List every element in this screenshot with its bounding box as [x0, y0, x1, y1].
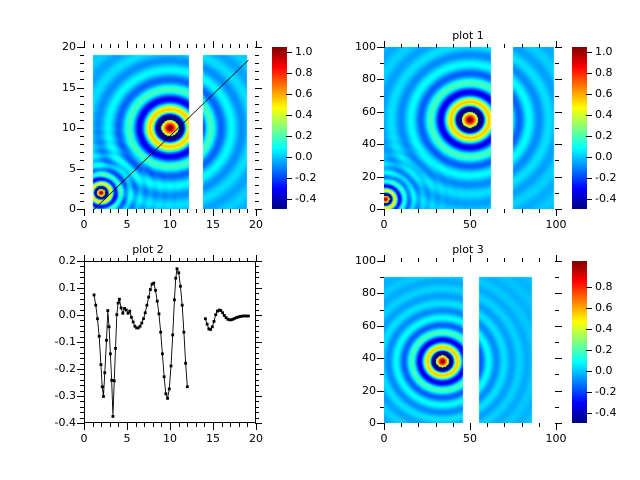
- data-point-marker: [103, 371, 106, 374]
- tick-mark: [239, 209, 240, 213]
- tick-mark: [377, 326, 384, 327]
- tick-mark: [470, 209, 471, 216]
- x-tick-label: 50: [448, 433, 492, 444]
- tick-mark: [80, 391, 84, 392]
- tick-mark: [555, 177, 562, 178]
- data-point-marker: [211, 325, 214, 328]
- tick-mark: [401, 423, 402, 427]
- tick-mark: [255, 152, 259, 153]
- tick-mark: [586, 287, 592, 288]
- tick-mark: [255, 293, 259, 294]
- tick-mark: [247, 258, 248, 262]
- tick-mark: [384, 255, 385, 262]
- tick-mark: [80, 374, 84, 375]
- tick-mark: [204, 44, 205, 48]
- tick-mark: [80, 160, 84, 161]
- tick-mark: [213, 255, 214, 262]
- tick-mark: [255, 266, 259, 267]
- tick-mark: [255, 177, 259, 178]
- data-point-marker: [118, 298, 121, 301]
- data-point-marker: [142, 317, 145, 320]
- colorbar-tick-label: 0.0: [595, 151, 635, 162]
- tick-mark: [80, 380, 84, 381]
- tick-mark: [555, 128, 559, 129]
- tick-mark: [255, 320, 259, 321]
- tick-mark: [255, 304, 259, 305]
- tick-mark: [586, 94, 592, 95]
- tick-mark: [80, 63, 84, 64]
- tick-mark: [204, 258, 205, 262]
- tick-mark: [101, 258, 102, 262]
- tick-mark: [101, 44, 102, 48]
- tick-mark: [255, 55, 259, 56]
- tick-mark: [80, 177, 84, 178]
- data-point-marker: [115, 313, 118, 316]
- y-tick-label: 0.2: [32, 255, 76, 266]
- colorbar-tick-label: -0.4: [595, 407, 635, 418]
- tick-mark: [77, 128, 84, 129]
- tick-mark: [80, 201, 84, 202]
- tick-mark: [453, 258, 454, 262]
- tick-mark: [380, 407, 384, 408]
- tick-mark: [196, 209, 197, 213]
- tick-mark: [453, 209, 454, 213]
- tick-mark: [380, 160, 384, 161]
- tick-mark: [504, 423, 505, 427]
- tick-mark: [80, 293, 84, 294]
- tick-mark: [196, 258, 197, 262]
- tick-mark: [255, 104, 259, 105]
- tick-mark: [384, 41, 385, 48]
- subplot-top-right: plot 1 050100020406080100 1.00.80.60.40.…: [320, 0, 640, 240]
- x-tick-label: 15: [191, 433, 235, 444]
- tick-mark: [179, 423, 180, 427]
- tick-mark: [586, 308, 592, 309]
- heatmap-bottom-right: [384, 261, 556, 423]
- tick-mark: [255, 342, 262, 343]
- data-point-marker: [130, 316, 133, 319]
- diagonal-annotation-line-top-left: [85, 48, 257, 210]
- colorbar-tick-label: -0.2: [595, 172, 635, 183]
- tick-mark: [487, 258, 488, 262]
- data-point-marker: [209, 328, 212, 331]
- data-point-marker: [156, 300, 159, 303]
- data-point-marker: [101, 385, 104, 388]
- tick-mark: [161, 44, 162, 48]
- tick-mark: [377, 112, 384, 113]
- tick-mark: [153, 258, 154, 262]
- tick-mark: [255, 337, 259, 338]
- tick-mark: [377, 79, 384, 80]
- axes-top-right: [384, 47, 556, 209]
- tick-mark: [401, 258, 402, 262]
- tick-mark: [555, 277, 559, 278]
- data-point-marker: [120, 307, 123, 310]
- tick-mark: [213, 41, 214, 48]
- tick-mark: [80, 337, 84, 338]
- tick-mark: [255, 299, 259, 300]
- tick-mark: [80, 79, 84, 80]
- tick-mark: [286, 178, 292, 179]
- tick-mark: [77, 315, 84, 316]
- data-point-marker: [98, 335, 101, 338]
- tick-mark: [418, 258, 419, 262]
- tick-mark: [586, 350, 592, 351]
- colorbar-tick-label: 0.8: [595, 67, 635, 78]
- data-point-marker: [177, 271, 180, 274]
- tick-mark: [204, 423, 205, 427]
- tick-mark: [522, 258, 523, 262]
- tick-mark: [255, 369, 262, 370]
- tick-mark: [80, 320, 84, 321]
- tick-mark: [256, 209, 257, 216]
- tick-mark: [255, 144, 259, 145]
- tick-mark: [80, 277, 84, 278]
- tick-mark: [80, 193, 84, 194]
- tick-mark: [377, 358, 384, 359]
- tick-mark: [93, 44, 94, 48]
- colorbar-tick-label: 0.8: [595, 281, 635, 292]
- tick-mark: [255, 310, 259, 311]
- tick-mark: [187, 44, 188, 48]
- colorbar-frame-top-left: [272, 47, 287, 209]
- tick-mark: [470, 41, 471, 48]
- x-tick-label: 10: [148, 433, 192, 444]
- tick-mark: [136, 258, 137, 262]
- data-point-marker: [184, 362, 187, 365]
- x-tick-label: 5: [105, 219, 149, 230]
- tick-mark: [80, 418, 84, 419]
- tick-mark: [377, 47, 384, 48]
- tick-mark: [80, 304, 84, 305]
- axes-top-left: [84, 47, 256, 209]
- tick-mark: [555, 310, 559, 311]
- data-point-marker: [96, 317, 99, 320]
- data-point-marker: [170, 365, 173, 368]
- tick-mark: [255, 288, 262, 289]
- tick-mark: [144, 423, 145, 427]
- data-point-marker: [146, 304, 149, 307]
- tick-mark: [436, 44, 437, 48]
- tick-mark: [286, 52, 292, 53]
- tick-mark: [213, 209, 214, 216]
- tick-mark: [136, 423, 137, 427]
- tick-mark: [93, 258, 94, 262]
- tick-mark: [255, 385, 259, 386]
- tick-mark: [436, 209, 437, 213]
- data-point-marker: [171, 334, 174, 337]
- line-series-bottom-left: [85, 262, 257, 424]
- tick-mark: [110, 44, 111, 48]
- y-tick-label: 20: [332, 385, 376, 396]
- data-point-marker: [149, 288, 152, 291]
- data-point-marker: [186, 385, 189, 388]
- colorbar-tick-label: 0.6: [595, 302, 635, 313]
- tick-mark: [84, 423, 85, 430]
- y-tick-label: 0.1: [32, 282, 76, 293]
- colorbar-tick-label: 0.2: [595, 344, 635, 355]
- tick-mark: [255, 396, 262, 397]
- tick-mark: [586, 52, 592, 53]
- tick-mark: [401, 209, 402, 213]
- y-tick-label: 5: [32, 163, 76, 174]
- tick-mark: [418, 44, 419, 48]
- tick-mark: [255, 261, 262, 262]
- tick-mark: [555, 193, 559, 194]
- tick-mark: [170, 209, 171, 216]
- tick-mark: [80, 96, 84, 97]
- y-tick-label: 60: [332, 106, 376, 117]
- data-point-marker: [132, 321, 135, 324]
- tick-mark: [255, 364, 259, 365]
- tick-mark: [255, 407, 259, 408]
- tick-mark: [84, 41, 85, 48]
- tick-mark: [77, 342, 84, 343]
- colorbar-frame-top-right: [572, 47, 587, 209]
- colorbar-frame-bottom-right: [572, 261, 587, 423]
- colorbar-tick-label: 1.0: [595, 46, 635, 57]
- tick-mark: [80, 136, 84, 137]
- tick-mark: [101, 423, 102, 427]
- data-point-marker: [121, 312, 124, 315]
- colorbar-gradient-bottom-right: [572, 261, 587, 423]
- tick-mark: [377, 391, 384, 392]
- tick-mark: [170, 255, 171, 262]
- tick-mark: [179, 209, 180, 213]
- tick-mark: [586, 157, 592, 158]
- tick-mark: [222, 258, 223, 262]
- tick-mark: [255, 201, 259, 202]
- y-tick-label: 0: [332, 203, 376, 214]
- tick-mark: [118, 258, 119, 262]
- tick-mark: [555, 96, 559, 97]
- tick-mark: [153, 209, 154, 213]
- tick-mark: [84, 209, 85, 216]
- data-point-marker: [161, 352, 164, 355]
- tick-mark: [179, 44, 180, 48]
- data-point-marker: [109, 352, 112, 355]
- tick-mark: [377, 293, 384, 294]
- data-point-marker: [164, 392, 167, 395]
- tick-mark: [555, 160, 559, 161]
- data-point-marker: [183, 331, 186, 334]
- x-tick-label: 5: [105, 433, 149, 444]
- tick-mark: [179, 258, 180, 262]
- axes-bottom-left: [84, 261, 256, 423]
- data-point-marker: [117, 302, 120, 305]
- tick-mark: [170, 423, 171, 430]
- axes-bottom-right: [384, 261, 556, 423]
- tick-mark: [204, 209, 205, 213]
- y-tick-label: -0.1: [32, 336, 76, 347]
- tick-mark: [80, 120, 84, 121]
- tick-mark: [213, 423, 214, 430]
- tick-mark: [161, 258, 162, 262]
- tick-mark: [77, 209, 84, 210]
- y-tick-label: -0.2: [32, 363, 76, 374]
- x-tick-label: 20: [234, 219, 278, 230]
- tick-mark: [504, 258, 505, 262]
- tick-mark: [144, 258, 145, 262]
- tick-mark: [380, 342, 384, 343]
- tick-mark: [380, 193, 384, 194]
- tick-mark: [118, 423, 119, 427]
- tick-mark: [77, 88, 84, 89]
- data-point-marker: [144, 311, 147, 314]
- tick-mark: [80, 358, 84, 359]
- data-point-marker: [247, 315, 250, 318]
- tick-mark: [239, 258, 240, 262]
- tick-mark: [80, 364, 84, 365]
- tick-mark: [255, 96, 259, 97]
- tick-mark: [436, 258, 437, 262]
- tick-mark: [436, 423, 437, 427]
- tick-mark: [487, 423, 488, 427]
- colorbar-tick-label: -0.4: [595, 193, 635, 204]
- tick-mark: [144, 209, 145, 213]
- colorbar-gradient-top-right: [572, 47, 587, 209]
- tick-mark: [170, 41, 171, 48]
- colorbar-tick-label: 0.4: [595, 109, 635, 120]
- tick-mark: [80, 144, 84, 145]
- tick-mark: [187, 209, 188, 213]
- data-point-marker: [125, 309, 128, 312]
- tick-mark: [539, 209, 540, 213]
- tick-mark: [93, 423, 94, 427]
- tick-mark: [77, 261, 84, 262]
- heatmap-top-right: [384, 47, 556, 209]
- tick-mark: [80, 407, 84, 408]
- tick-mark: [586, 199, 592, 200]
- tick-mark: [255, 347, 259, 348]
- y-tick-label: 0.0: [32, 309, 76, 320]
- tick-mark: [153, 44, 154, 48]
- x-tick-label: 0: [362, 219, 406, 230]
- tick-mark: [453, 423, 454, 427]
- tick-mark: [80, 283, 84, 284]
- y-tick-label: 20: [32, 41, 76, 52]
- colorbar-gradient-top-left: [272, 47, 287, 209]
- tick-mark: [255, 63, 259, 64]
- tick-mark: [555, 79, 562, 80]
- tick-mark: [255, 272, 259, 273]
- tick-mark: [187, 258, 188, 262]
- tick-mark: [222, 209, 223, 213]
- tick-mark: [380, 96, 384, 97]
- tick-mark: [555, 47, 562, 48]
- data-point-marker: [94, 304, 97, 307]
- tick-mark: [380, 277, 384, 278]
- tick-mark: [255, 169, 262, 170]
- tick-mark: [255, 185, 259, 186]
- data-point-marker: [139, 325, 142, 328]
- tick-mark: [255, 380, 259, 381]
- tick-mark: [555, 293, 562, 294]
- subplot-top-left: 0510152005101520 1.00.80.60.40.20.0-0.2-…: [0, 0, 320, 240]
- line-path: [94, 269, 187, 417]
- data-point-marker: [213, 320, 216, 323]
- tick-mark: [118, 209, 119, 213]
- x-tick-label: 10: [148, 219, 192, 230]
- data-point-marker: [152, 282, 155, 285]
- y-tick-label: -0.4: [32, 417, 76, 428]
- tick-mark: [247, 423, 248, 427]
- tick-mark: [286, 115, 292, 116]
- tick-mark: [255, 283, 259, 284]
- data-point-marker: [163, 375, 166, 378]
- tick-mark: [255, 136, 259, 137]
- tick-mark: [380, 374, 384, 375]
- y-tick-label: 80: [332, 73, 376, 84]
- y-tick-label: 60: [332, 320, 376, 331]
- tick-mark: [77, 288, 84, 289]
- tick-mark: [555, 342, 559, 343]
- y-tick-label: 15: [32, 82, 76, 93]
- tick-mark: [136, 44, 137, 48]
- x-tick-label: 100: [534, 433, 578, 444]
- tick-mark: [77, 369, 84, 370]
- tick-mark: [80, 299, 84, 300]
- tick-mark: [110, 423, 111, 427]
- x-tick-label: 100: [534, 219, 578, 230]
- tick-mark: [247, 44, 248, 48]
- tick-mark: [118, 44, 119, 48]
- colorbar-tick-label: -0.2: [595, 386, 635, 397]
- tick-mark: [380, 63, 384, 64]
- data-point-marker: [158, 312, 161, 315]
- tick-mark: [255, 331, 259, 332]
- data-point-marker: [181, 304, 184, 307]
- tick-mark: [127, 209, 128, 216]
- tick-mark: [80, 347, 84, 348]
- diagonal-line: [90, 60, 248, 210]
- colorbar-tick-label: 0.2: [595, 130, 635, 141]
- tick-mark: [230, 258, 231, 262]
- tick-mark: [586, 73, 592, 74]
- tick-mark: [77, 396, 84, 397]
- tick-mark: [522, 209, 523, 213]
- data-point-marker: [174, 277, 177, 280]
- data-point-marker: [114, 347, 117, 350]
- tick-mark: [80, 266, 84, 267]
- data-point-marker: [147, 296, 150, 299]
- tick-mark: [161, 423, 162, 427]
- tick-mark: [80, 55, 84, 56]
- data-point-marker: [105, 339, 108, 342]
- tick-mark: [255, 88, 262, 89]
- tick-mark: [377, 423, 384, 424]
- y-tick-label: 100: [332, 41, 376, 52]
- x-tick-label: 20: [234, 433, 278, 444]
- tick-mark: [255, 277, 259, 278]
- subplot-bottom-right-title: plot 3: [360, 244, 576, 256]
- y-tick-label: 100: [332, 255, 376, 266]
- figure-canvas: 0510152005101520 1.00.80.60.40.20.0-0.2-…: [0, 0, 640, 480]
- tick-mark: [586, 115, 592, 116]
- tick-mark: [196, 423, 197, 427]
- tick-mark: [80, 272, 84, 273]
- tick-mark: [153, 423, 154, 427]
- y-tick-label: 0: [32, 203, 76, 214]
- subplot-bottom-right: plot 3 050100020406080100 0.80.60.40.20.…: [320, 240, 640, 480]
- tick-mark: [84, 255, 85, 262]
- tick-mark: [80, 185, 84, 186]
- tick-mark: [196, 44, 197, 48]
- tick-mark: [230, 423, 231, 427]
- tick-mark: [230, 209, 231, 213]
- data-point-marker: [168, 388, 171, 391]
- tick-mark: [80, 152, 84, 153]
